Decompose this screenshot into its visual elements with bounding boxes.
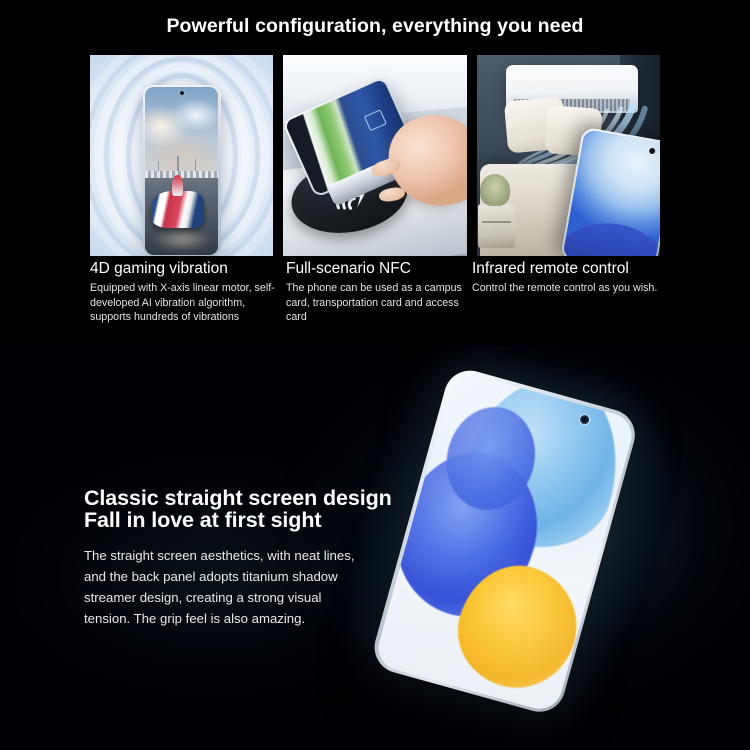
feature-description: Equipped with X-axis linear motor, self-… [90, 281, 286, 325]
features-section: Powerful configuration, everything you n… [0, 0, 750, 345]
showcase-section: Classic straight screen design Fall in l… [0, 345, 750, 750]
game-sky [145, 87, 219, 181]
race-car [151, 191, 204, 228]
feature-image-full-scenario-nfc [283, 55, 466, 256]
feature-image-row [90, 55, 660, 256]
phone-mockup [143, 85, 221, 256]
feature-caption: Infrared remote control Control the remo… [472, 260, 667, 325]
feature-title: 4D gaming vibration [90, 260, 286, 278]
page-title: Powerful configuration, everything you n… [0, 15, 750, 38]
phone-screen [145, 87, 219, 255]
feature-title: Full-scenario NFC [286, 260, 472, 278]
showcase-description: The straight screen aesthetics, with nea… [84, 545, 414, 629]
showcase-title: Classic straight screen design Fall in l… [84, 487, 414, 531]
feature-title: Infrared remote control [472, 260, 667, 278]
plant [480, 174, 509, 206]
feature-description: Control the remote control as you wish. [472, 281, 667, 296]
feature-caption: Full-scenario NFC The phone can be used … [286, 260, 472, 325]
showcase-copy: Classic straight screen design Fall in l… [84, 487, 414, 629]
feature-caption: 4D gaming vibration Equipped with X-axis… [90, 260, 286, 325]
nightstand [478, 204, 515, 248]
product-feature-page: Powerful configuration, everything you n… [0, 0, 750, 750]
feature-image-infrared-remote-control [477, 55, 660, 256]
feature-caption-row: 4D gaming vibration Equipped with X-axis… [90, 260, 670, 325]
feature-image-4d-gaming-vibration [90, 55, 273, 256]
feature-description: The phone can be used as a campus card, … [286, 281, 472, 325]
camera-punch-hole-icon [180, 91, 184, 95]
